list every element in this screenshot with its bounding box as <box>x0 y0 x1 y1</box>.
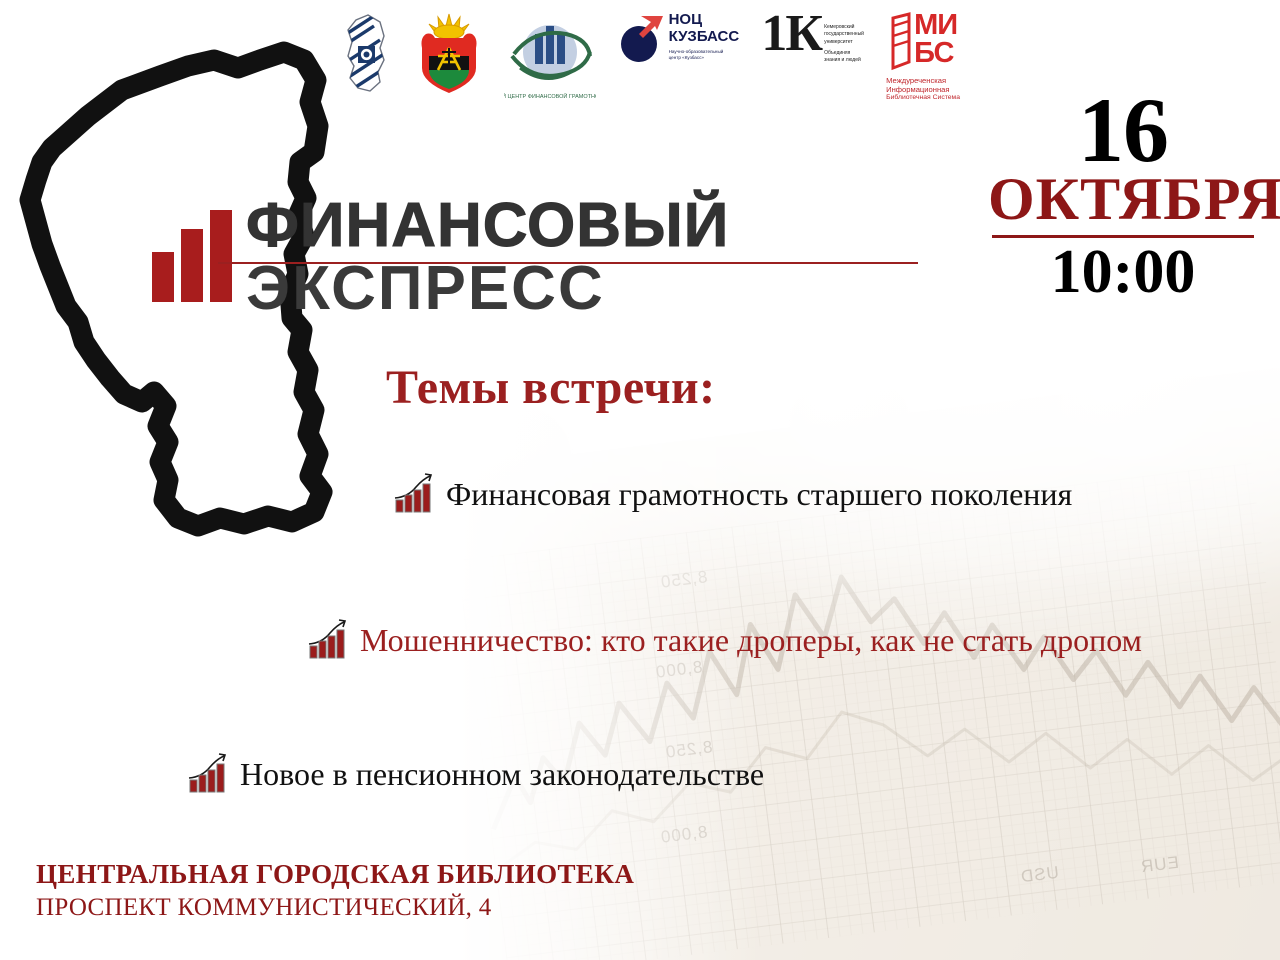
growth-bar-chart-icon <box>306 617 350 666</box>
chart-currency: EUR <box>1139 853 1180 878</box>
venue-name: ЦЕНТРАЛЬНАЯ ГОРОДСКАЯ БИБЛИОТЕКА <box>36 858 634 892</box>
event-date-block: 16 ОКТЯБРЯ 10:00 <box>988 88 1258 305</box>
partner-logo-kuzbass-coat-of-arms <box>416 12 482 96</box>
event-time: 10:00 <box>988 240 1258 305</box>
event-day: 16 <box>988 88 1258 173</box>
partner-logo-noc-kuzbass: НОЦ КУЗБАСС Научно-образовательный центр… <box>619 12 740 66</box>
topic-text: Новое в пенсионном законодательстве <box>240 756 764 792</box>
mibs-book-icon <box>889 12 913 74</box>
poster-canvas: 8,250 8,000 8,250 8,000 USD EUR <box>0 0 1280 960</box>
chart-currency: USD <box>1019 863 1060 888</box>
topic-item: Мошенничество: кто такие дроперы, как не… <box>306 612 1166 668</box>
venue-block: ЦЕНТРАЛЬНАЯ ГОРОДСКАЯ БИБЛИОТЕКА ПРОСПЕК… <box>36 858 634 924</box>
event-month: ОКТЯБРЯ <box>988 169 1258 229</box>
kemsu-caption-line5: знания и людей <box>824 57 864 64</box>
topic-text: Финансовая грамотность старшего поколени… <box>446 476 1072 512</box>
financial-literacy-center-caption: РЕГИОНАЛЬНЫЙ ЦЕНТР ФИНАНСОВОЙ ГРАМОТНОСТ… <box>504 92 596 100</box>
noc-kuzbass-title-line2: КУЗБАСС <box>669 29 740 46</box>
partner-logo-mezhdurechensk <box>340 12 394 96</box>
partner-logo-strip: РЕГИОНАЛЬНЫЙ ЦЕНТР ФИНАНСОВОЙ ГРАМОТНОСТ… <box>340 12 960 112</box>
noc-kuzbass-caption-line2: центр «Кузбасс» <box>669 55 740 61</box>
growth-bar-chart-icon <box>186 751 230 800</box>
mezhdurechensk-map-icon <box>340 12 394 96</box>
mibs-caption-line3: Библиотечная Система <box>886 94 960 102</box>
venue-address: ПРОСПЕКТ КОММУНИСТИЧЕСКИЙ, 4 <box>36 892 634 925</box>
topics-heading: Темы встречи: <box>386 360 716 415</box>
kemsu-caption-line3: университет <box>824 39 864 46</box>
blurred-object <box>1060 360 1210 460</box>
topic-item: Новое в пенсионном законодательстве <box>186 746 1086 802</box>
wordmark-bar-chart-icon <box>152 210 232 302</box>
noc-kuzbass-mark-icon <box>619 12 665 66</box>
event-wordmark: ФИНАНСОВЫЙ ЭКСПРЕСС <box>152 196 729 320</box>
kemsu-caption-line4: Объединяя <box>824 50 864 57</box>
growth-bar-chart-icon <box>392 471 436 520</box>
wordmark-line2: ЭКСПРЕСС <box>246 258 729 320</box>
partner-logo-financial-literacy-center: РЕГИОНАЛЬНЫЙ ЦЕНТР ФИНАНСОВОЙ ГРАМОТНОСТ… <box>504 12 596 100</box>
blurred-object <box>790 370 910 465</box>
chart-number: 8,250 <box>659 567 709 593</box>
kuzbass-coat-of-arms-icon <box>416 12 482 96</box>
mibs-mark-line2: БС <box>914 40 957 68</box>
partner-logo-mibs: МИ БС Междуреченская Информационная Библ… <box>886 12 960 102</box>
topic-text: Мошенничество: кто такие дроперы, как не… <box>360 622 1142 658</box>
financial-literacy-center-icon: РЕГИОНАЛЬНЫЙ ЦЕНТР ФИНАНСОВОЙ ГРАМОТНОСТ… <box>504 12 596 100</box>
mibs-mark-line1: МИ <box>914 12 957 40</box>
wordmark-rule <box>218 262 918 264</box>
partner-logo-kemsu: 1К Кемеровский государственный университ… <box>761 12 864 64</box>
kemsu-mark: 1К <box>761 12 821 57</box>
wordmark-line1: ФИНАНСОВЫЙ <box>246 196 729 256</box>
topic-item: Финансовая грамотность старшего поколени… <box>392 466 1192 522</box>
chart-number: 8,000 <box>659 822 709 848</box>
kemsu-caption-line2: государственный <box>824 31 864 38</box>
noc-kuzbass-title-line1: НОЦ <box>669 12 740 29</box>
